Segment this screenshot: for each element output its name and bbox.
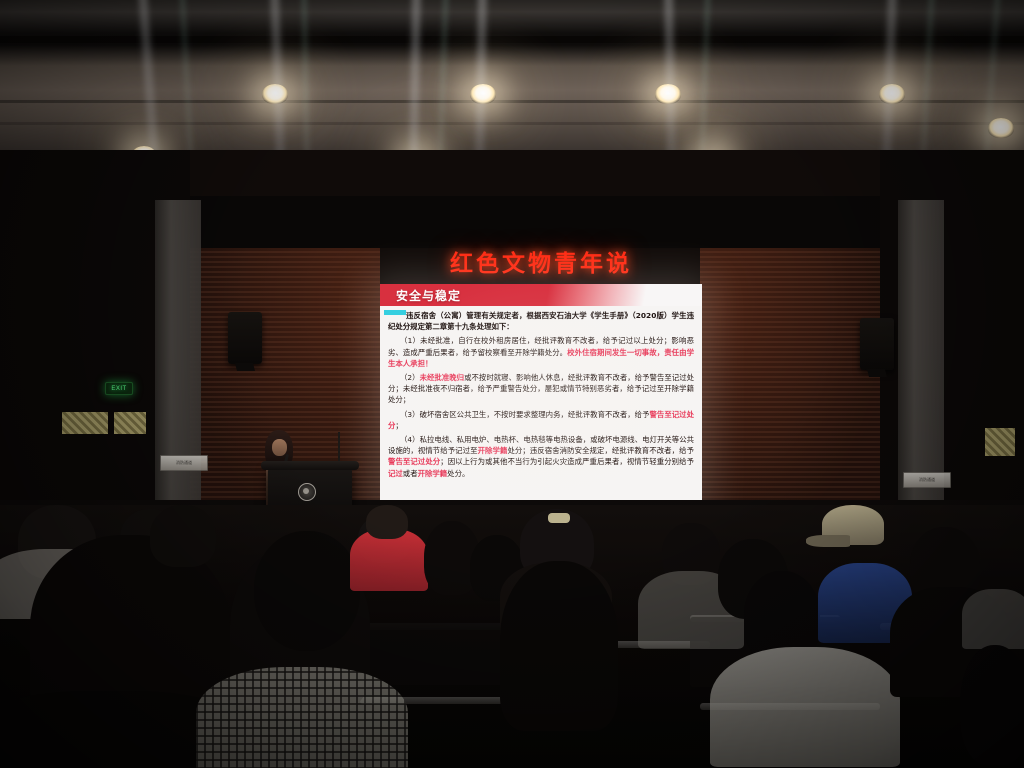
audience-head — [150, 505, 216, 567]
projection-screen: 安全与稳定 违反宿舍（公寓）管理有关规定者，根据西安石油大学《学生手册》（202… — [380, 284, 702, 507]
audience-area — [0, 505, 1024, 768]
wall-speaker-right — [860, 318, 894, 370]
university-emblem-icon — [298, 483, 316, 501]
audience-head — [960, 645, 1024, 765]
door-sign-right: 消防通道 — [903, 472, 951, 488]
audience-shoulder — [962, 589, 1024, 649]
slide-text-highlight: 未经批准晚归 — [420, 373, 465, 382]
wall-speaker-left — [228, 312, 262, 364]
slide-body: 违反宿舍（公寓）管理有关规定者，根据西安石油大学《学生手册》（2020版）学生违… — [380, 306, 702, 483]
slide-item: （4）私拉电线、私用电炉、电热杯、电热毯等电热设备，或破坏电源线、电灯开关等公共… — [388, 434, 694, 479]
audience-head — [500, 561, 618, 731]
slide-lead-paragraph: 违反宿舍（公寓）管理有关规定者，根据西安石油大学《学生手册》（2020版）学生违… — [388, 310, 694, 332]
projected-banner-title: 红色文物青年说 — [380, 244, 702, 278]
slide-item: （1）未经批准，自行在校外租房居住，经批评教育不改者，给予记过以上处分；影响恶劣… — [388, 335, 694, 369]
door-sign-left: 消防通道 — [160, 455, 208, 471]
slide-text-highlight: 记过 — [388, 469, 403, 478]
slide-text: 破坏宿舍区公共卫生，不按时要求整理内务，经批评教育不改者，给予 — [420, 410, 650, 419]
slide-item: （3）破坏宿舍区公共卫生，不按时要求整理内务，经批评教育不改者，给予警告至记过处… — [388, 409, 694, 431]
slide-header-title: 安全与稳定 — [396, 287, 461, 304]
slide-item-number: （3） — [400, 410, 420, 419]
slide-header-bar: 安全与稳定 — [380, 284, 702, 306]
slide-item-number: （2） — [400, 373, 420, 382]
gold-wall-panel — [985, 428, 1015, 456]
slide-text: 处分；违反宿舍消防安全规定，经批评教育不改者，给予 — [507, 446, 694, 455]
ceiling-seam — [0, 36, 1024, 43]
slide-text: ； — [395, 421, 402, 430]
gold-wall-panel — [62, 412, 108, 434]
slide-text-highlight: 开除学籍 — [478, 446, 508, 455]
hair-clip-icon — [548, 513, 570, 523]
ceiling-downlight-icon — [988, 118, 1014, 138]
cap-brim-icon — [806, 535, 850, 547]
auditorium-photo: EXIT 消防通道 消防通道 红色文物青年说 安全与稳定 违反宿舍（公寓）管理有… — [0, 0, 1024, 768]
slide-text-highlight: 警告至记过处分 — [388, 457, 440, 466]
wall-column-left — [155, 200, 201, 530]
audience-head — [366, 505, 408, 539]
slide-text-highlight: 开除学籍 — [418, 469, 448, 478]
slide-item: （2）未经批准晚归或不按时就寝、影响他人休息，经批评教育不改者，给予警告至记过处… — [388, 372, 694, 406]
slide-text: 或者 — [403, 469, 418, 478]
slide-text: ；因以上行为或其他不当行为引起火灾造成严重后果者，视情节轻重分别给予 — [440, 457, 694, 466]
audience-shoulder-plaid — [196, 667, 408, 768]
audience-head — [254, 531, 360, 651]
banner-title-text: 红色文物青年说 — [450, 244, 632, 278]
screen-header-shadow — [140, 196, 900, 248]
exit-sign: EXIT — [105, 382, 133, 395]
slide-text: 处分。 — [447, 469, 469, 478]
gold-wall-panel — [114, 412, 146, 434]
presenter-face — [272, 439, 287, 456]
audience-shoulder-white — [710, 647, 900, 767]
slide-item-number: （1） — [400, 336, 420, 345]
slide-item-number: （4） — [400, 435, 420, 444]
exit-sign-label: EXIT — [111, 386, 126, 392]
